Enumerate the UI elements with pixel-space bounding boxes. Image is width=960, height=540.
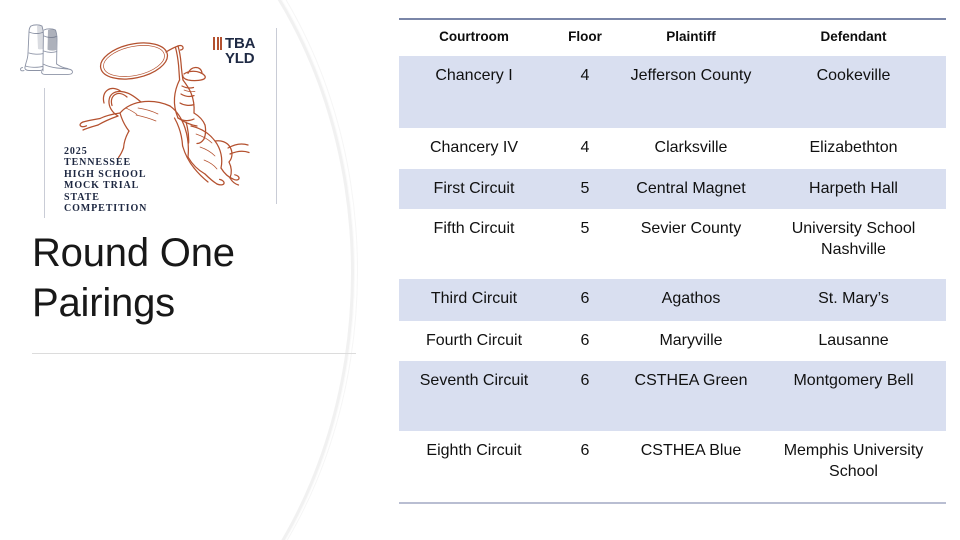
cell-plaintiff: CSTHEA Green — [621, 361, 761, 431]
table-row: Fifth Circuit5Sevier CountyUniversity Sc… — [399, 209, 946, 279]
tba-bars-icon — [213, 37, 222, 50]
cell-defendant: Memphis University School — [761, 431, 946, 503]
competition-event: MOCK TRIAL — [64, 180, 147, 191]
cell-courtroom: Chancery IV — [399, 128, 549, 169]
competition-scope: STATE — [64, 192, 147, 203]
cell-courtroom: Seventh Circuit — [399, 361, 549, 431]
cell-courtroom: Fifth Circuit — [399, 209, 549, 279]
page-title-line1: Round One — [32, 228, 362, 278]
cell-floor: 6 — [549, 279, 621, 321]
cell-defendant: University School Nashville — [761, 209, 946, 279]
cell-floor: 5 — [549, 209, 621, 279]
title-underline — [32, 353, 356, 354]
competition-level: HIGH SCHOOL — [64, 169, 147, 180]
cell-courtroom: Chancery I — [399, 56, 549, 128]
cell-plaintiff: Agathos — [621, 279, 761, 321]
yld-label: YLD — [225, 51, 275, 66]
table-row: Third Circuit6AgathosSt. Mary’s — [399, 279, 946, 321]
cell-plaintiff: Jefferson County — [621, 56, 761, 128]
cell-floor: 4 — [549, 56, 621, 128]
table-header-row: Courtroom Floor Plaintiff Defendant — [399, 19, 946, 56]
pairings-table: Courtroom Floor Plaintiff Defendant Chan… — [399, 18, 946, 504]
competition-state: TENNESSEE — [64, 157, 147, 168]
cell-floor: 5 — [549, 169, 621, 209]
cell-defendant: Montgomery Bell — [761, 361, 946, 431]
cell-plaintiff: Clarksville — [621, 128, 761, 169]
table-row: Fourth Circuit6MaryvilleLausanne — [399, 321, 946, 361]
table-header: Courtroom Floor Plaintiff Defendant — [399, 19, 946, 56]
table-row: Eighth Circuit6CSTHEA BlueMemphis Univer… — [399, 431, 946, 503]
table-row: Seventh Circuit6CSTHEA GreenMontgomery B… — [399, 361, 946, 431]
table-row: Chancery IV4ClarksvilleElizabethton — [399, 128, 946, 169]
table-row: First Circuit5Central MagnetHarpeth Hall — [399, 169, 946, 209]
cell-defendant: St. Mary’s — [761, 279, 946, 321]
logo-divider-left — [44, 88, 45, 218]
left-panel: TBA YLD 2025 TENNESSEE HIGH SCHOOL MOCK … — [0, 0, 380, 540]
tba-yld-logo: TBA YLD — [213, 36, 275, 67]
competition-title-block: 2025 TENNESSEE HIGH SCHOOL MOCK TRIAL ST… — [64, 146, 147, 214]
cell-courtroom: Fourth Circuit — [399, 321, 549, 361]
cell-defendant: Cookeville — [761, 56, 946, 128]
table-row: Chancery I4Jefferson CountyCookeville — [399, 56, 946, 128]
cell-floor: 4 — [549, 128, 621, 169]
page-title: Round One Pairings — [32, 228, 362, 328]
table-body: Chancery I4Jefferson CountyCookevilleCha… — [399, 56, 946, 503]
logo-divider-right — [276, 28, 277, 204]
competition-logo: TBA YLD 2025 TENNESSEE HIGH SCHOOL MOCK … — [6, 8, 306, 208]
tba-label: TBA — [225, 36, 255, 51]
cell-defendant: Harpeth Hall — [761, 169, 946, 209]
page-title-line2: Pairings — [32, 278, 362, 328]
column-header-courtroom: Courtroom — [399, 19, 549, 56]
cell-plaintiff: Maryville — [621, 321, 761, 361]
cell-plaintiff: Central Magnet — [621, 169, 761, 209]
column-header-floor: Floor — [549, 19, 621, 56]
cell-plaintiff: Sevier County — [621, 209, 761, 279]
cowboy-boots-icon — [18, 20, 80, 78]
pairings-table-container: Courtroom Floor Plaintiff Defendant Chan… — [399, 18, 946, 504]
cell-floor: 6 — [549, 431, 621, 503]
competition-year: 2025 — [64, 146, 147, 157]
cell-floor: 6 — [549, 361, 621, 431]
competition-type: COMPETITION — [64, 203, 147, 214]
slide-canvas: TBA YLD 2025 TENNESSEE HIGH SCHOOL MOCK … — [0, 0, 960, 540]
cell-plaintiff: CSTHEA Blue — [621, 431, 761, 503]
cell-defendant: Lausanne — [761, 321, 946, 361]
cell-floor: 6 — [549, 321, 621, 361]
cell-courtroom: Third Circuit — [399, 279, 549, 321]
cell-courtroom: Eighth Circuit — [399, 431, 549, 503]
column-header-defendant: Defendant — [761, 19, 946, 56]
cell-defendant: Elizabethton — [761, 128, 946, 169]
cell-courtroom: First Circuit — [399, 169, 549, 209]
column-header-plaintiff: Plaintiff — [621, 19, 761, 56]
